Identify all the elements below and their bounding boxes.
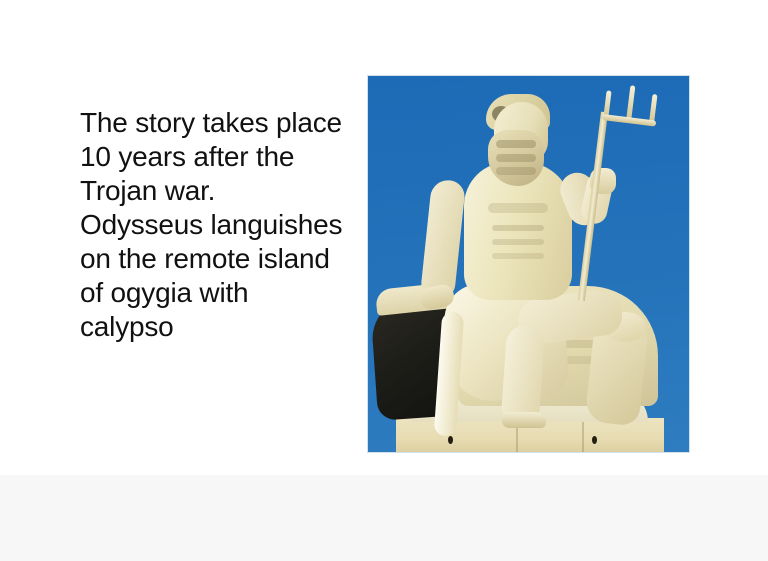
pedestal-seam [582,418,584,452]
statue-chest-line [488,203,548,213]
pedestal-bolt [448,436,453,444]
trident-prong [649,94,657,122]
statue-abdomen-lines [492,225,544,231]
text-line-3: Trojan war. [80,174,380,208]
slide-body-text: The story takes place 10 years after the… [80,106,380,344]
statue-foot [502,412,546,428]
poseidon-statue-photo [367,75,690,453]
text-line-4: Odysseus languishes [80,208,380,242]
statue-shin [501,325,546,423]
text-line-5: on the remote island [80,242,380,276]
trident-prong [603,90,611,116]
trident-icon [602,84,660,126]
text-line-7: calypso [80,310,380,344]
statue-beard [488,130,544,186]
text-line-1: The story takes place [80,106,380,140]
trident-prong [626,85,635,119]
text-line-2: 10 years after the [80,140,380,174]
text-line-6: of ogygia with [80,276,380,310]
slide-lower-band [0,475,768,561]
pedestal-bolt [592,436,597,444]
presentation-slide: The story takes place 10 years after the… [0,0,768,561]
